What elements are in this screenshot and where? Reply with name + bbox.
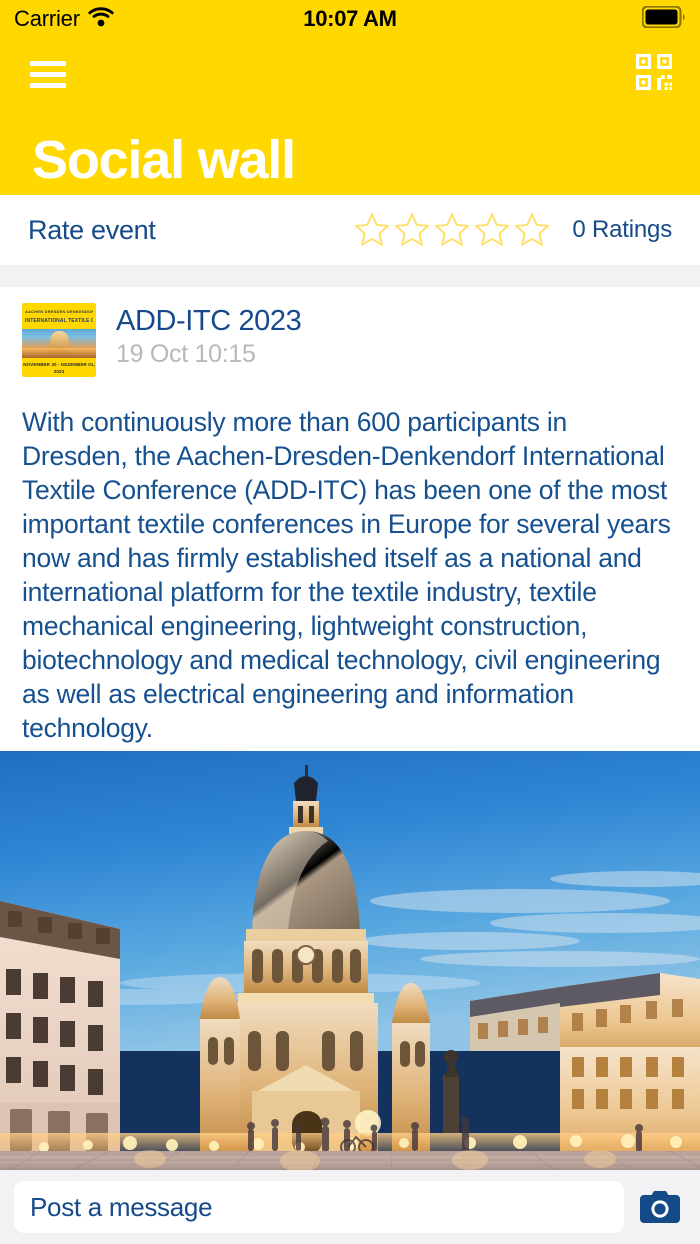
rate-event-label: Rate event	[28, 215, 156, 246]
avatar[interactable]: AACHEN DRESDEN DENKENDORF INTERNATIONAL …	[22, 303, 96, 377]
hamburger-menu-icon[interactable]	[30, 61, 66, 88]
rate-event-bar: Rate event 0 Ratings	[0, 195, 700, 265]
star-outline-icon[interactable]	[474, 212, 510, 248]
left-building	[0, 901, 120, 1170]
avatar-footer-line1: NOVEMBER 30 - DEZEMBER 01, 2023	[22, 361, 96, 375]
dresden-frauenkirche-photo	[0, 751, 700, 1170]
post-image[interactable]	[0, 751, 700, 1170]
social-post: AACHEN DRESDEN DENKENDORF INTERNATIONAL …	[0, 287, 700, 1170]
status-bar-time: 10:07 AM	[0, 6, 700, 32]
star-outline-icon[interactable]	[354, 212, 390, 248]
qr-code-icon[interactable]	[634, 52, 674, 97]
post-body-text: With continuously more than 600 particip…	[0, 377, 700, 745]
right-buildings	[443, 973, 700, 1155]
hamburger-bar	[30, 72, 66, 77]
avatar-photo	[22, 329, 96, 358]
social-wall-screen: Carrier 10:07 AM	[0, 0, 700, 1244]
star-outline-icon[interactable]	[514, 212, 550, 248]
hamburger-bar	[30, 83, 66, 88]
avatar-footer: NOVEMBER 30 - DEZEMBER 01, 2023 DRESDEN,…	[22, 358, 96, 377]
app-header: Social wall	[0, 38, 700, 195]
luther-statue	[443, 1050, 459, 1133]
avatar-line1: AACHEN DRESDEN DENKENDORF	[25, 309, 93, 314]
post-image-container[interactable]	[0, 751, 700, 1170]
section-divider	[0, 265, 700, 287]
avatar-line2: INTERNATIONAL TEXTILE CONFERENCE	[25, 318, 93, 324]
post-timestamp: 19 Oct 10:15	[116, 340, 301, 369]
post-message-input[interactable]	[14, 1181, 624, 1233]
camera-icon[interactable]	[638, 1185, 682, 1229]
message-composer	[0, 1170, 700, 1244]
header-icon-row	[0, 38, 700, 97]
ratings-count: 0 Ratings	[572, 216, 672, 244]
post-author[interactable]: ADD-ITC 2023	[116, 305, 301, 338]
avatar-footer-line2: DRESDEN, GERMANY	[22, 375, 96, 377]
status-bar: Carrier 10:07 AM	[0, 0, 700, 38]
hamburger-bar	[30, 61, 66, 66]
star-outline-icon[interactable]	[394, 212, 430, 248]
post-header: AACHEN DRESDEN DENKENDORF INTERNATIONAL …	[0, 287, 700, 377]
star-rating[interactable]	[354, 212, 550, 248]
star-outline-icon[interactable]	[434, 212, 470, 248]
battery-full-icon	[642, 6, 686, 33]
page-title: Social wall	[32, 133, 295, 187]
status-bar-right	[642, 6, 686, 33]
post-meta: ADD-ITC 2023 19 Oct 10:15	[116, 303, 301, 369]
